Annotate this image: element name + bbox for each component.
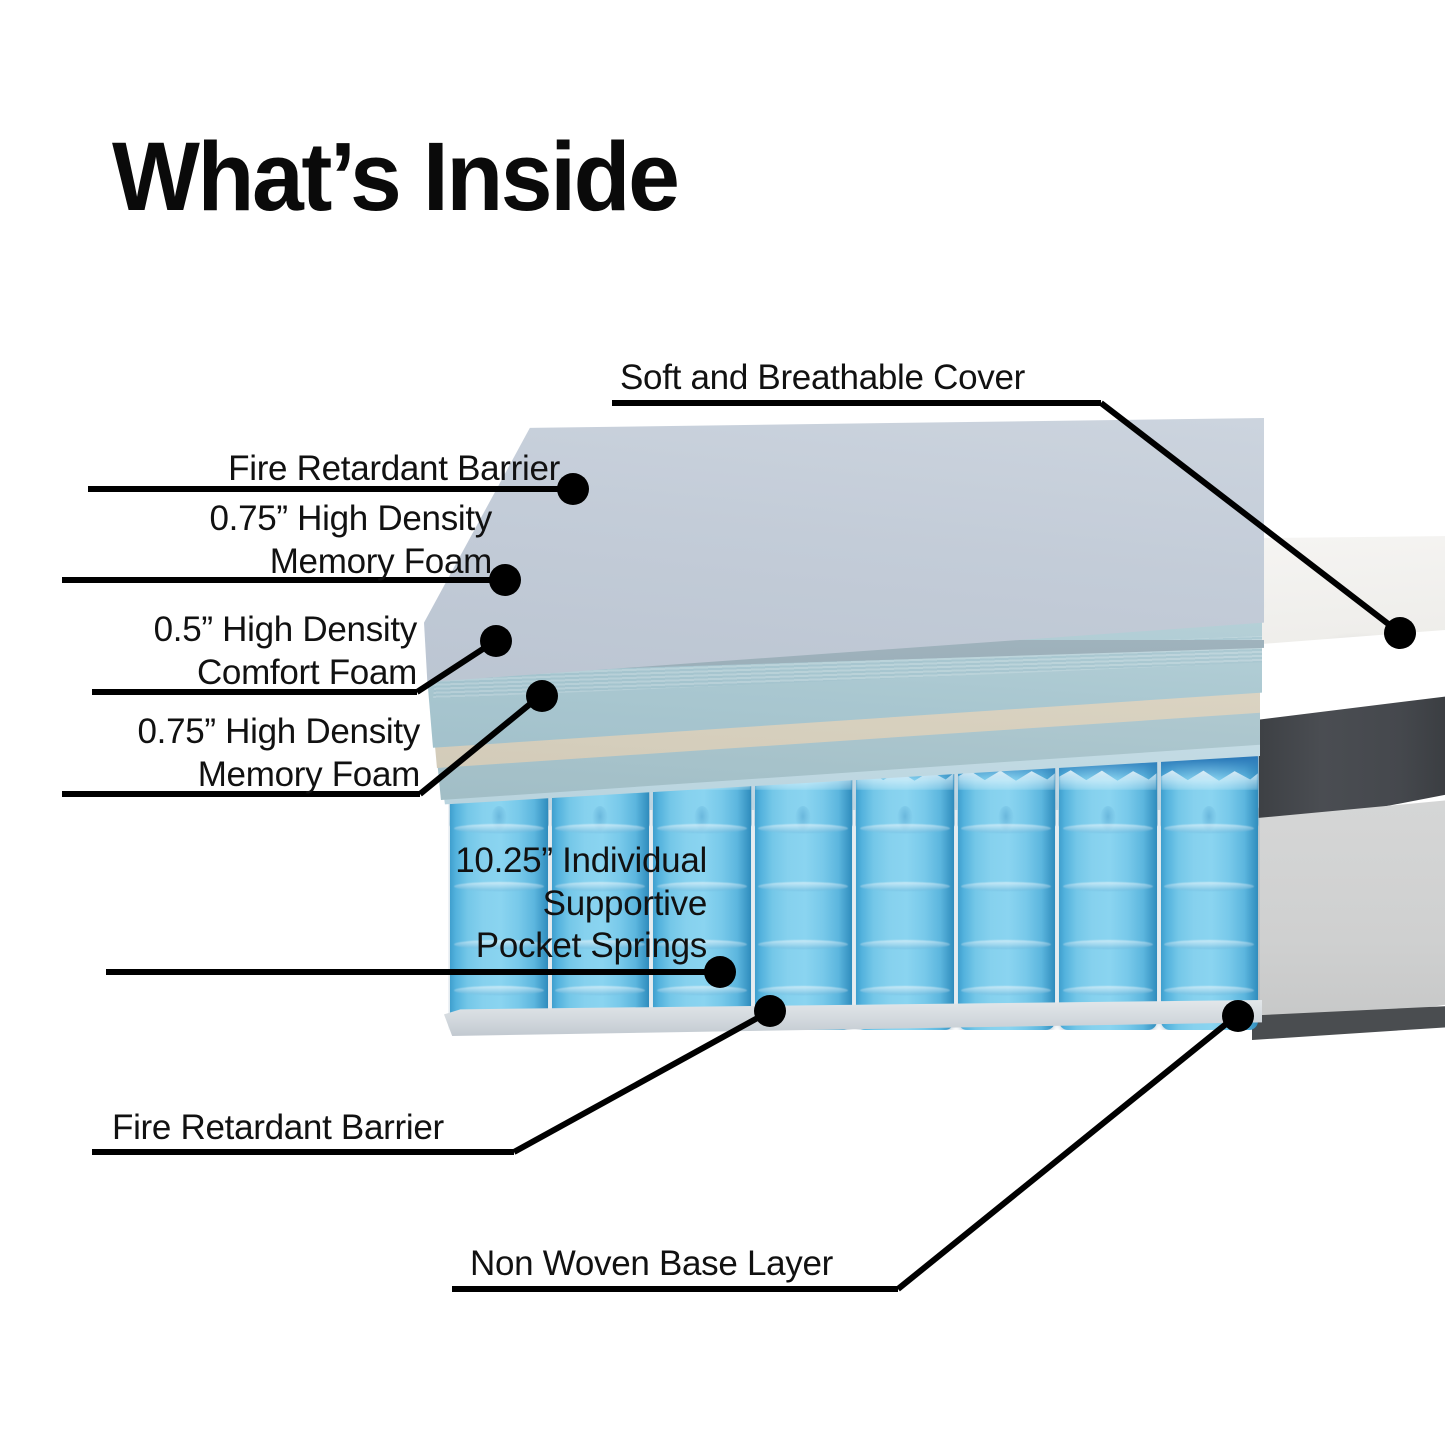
spring-ring bbox=[1063, 940, 1153, 949]
spring-ring bbox=[555, 824, 645, 833]
callout-label-memory-foam-075-top: 0.75” High Density Memory Foam bbox=[76, 498, 492, 583]
spring-ring bbox=[454, 824, 544, 833]
spring-pocket-fabric bbox=[1161, 768, 1259, 790]
callout-label-fire-retardant-barrier-bottom: Fire Retardant Barrier bbox=[112, 1107, 444, 1150]
spring-ring bbox=[758, 940, 848, 949]
spring-ring bbox=[1164, 940, 1254, 949]
callout-label-memory-foam-075-bottom: 0.75” High Density Memory Foam bbox=[62, 711, 420, 796]
callout-label-pocket-springs: 10.25” Individual Supportive Pocket Spri… bbox=[120, 840, 707, 968]
spring-ring bbox=[961, 940, 1051, 949]
cover-side-panel bbox=[1252, 800, 1445, 1032]
callout-label-non-woven-base-layer: Non Woven Base Layer bbox=[470, 1243, 833, 1286]
spring-coil bbox=[755, 746, 853, 1030]
spring-ring bbox=[1164, 986, 1254, 995]
spring-ring bbox=[758, 986, 848, 995]
callout-label-comfort-foam-05: 0.5” High Density Comfort Foam bbox=[92, 609, 417, 694]
spring-ring bbox=[860, 940, 950, 949]
spring-pocket-fabric bbox=[1059, 768, 1157, 790]
spring-ring bbox=[860, 986, 950, 995]
infographic-canvas: What’s Inside bbox=[0, 0, 1445, 1445]
spring-ring bbox=[1164, 882, 1254, 891]
spring-coil bbox=[856, 746, 954, 1030]
spring-ring bbox=[1063, 986, 1153, 995]
spring-ring bbox=[1063, 882, 1153, 891]
spring-ring bbox=[961, 824, 1051, 833]
callout-label-soft-breathable-cover: Soft and Breathable Cover bbox=[620, 357, 1025, 400]
spring-ring bbox=[657, 824, 747, 833]
spring-ring bbox=[1164, 824, 1254, 833]
spring-coil bbox=[1059, 746, 1157, 1030]
spring-ring bbox=[860, 882, 950, 891]
spring-ring bbox=[860, 824, 950, 833]
spring-ring bbox=[657, 986, 747, 995]
spring-ring bbox=[961, 882, 1051, 891]
spring-ring bbox=[555, 986, 645, 995]
spring-coil bbox=[958, 746, 1056, 1030]
spring-ring bbox=[758, 882, 848, 891]
spring-coil bbox=[1161, 746, 1259, 1030]
spring-ring bbox=[961, 986, 1051, 995]
callout-label-fire-retardant-barrier-top: Fire Retardant Barrier bbox=[108, 448, 560, 491]
spring-ring bbox=[454, 986, 544, 995]
spring-ring bbox=[1063, 824, 1153, 833]
spring-ring bbox=[758, 824, 848, 833]
